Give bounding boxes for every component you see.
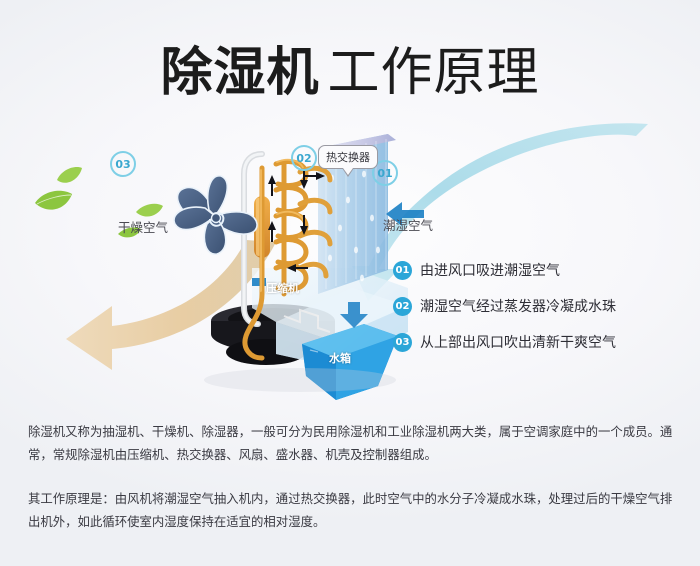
legend-text-01: 由进风口吸进潮湿空气	[420, 260, 560, 280]
page-title-primary: 除湿机	[160, 43, 319, 103]
legend-item-03: 03 从上部出风口吹出清新干爽空气	[393, 324, 693, 360]
legend-text-03: 从上部出风口吹出清新干爽空气	[420, 332, 616, 352]
page-title: 除湿机工作原理	[0, 30, 700, 105]
body-paragraph-1: 除湿机又称为抽湿机、干燥机、除湿器，一般可分为民用除湿机和工业除湿机两大类，属于…	[28, 420, 676, 466]
page-title-secondary: 工作原理	[328, 43, 540, 103]
body-paragraph-2: 其工作原理是：由风机将潮湿空气抽入机内，通过热交换器，此时空气中的水分子冷凝成水…	[28, 487, 676, 533]
leaf-icon-1	[35, 191, 72, 210]
legend-list: 01 由进风口吸进潮湿空气 02 潮湿空气经过蒸发器冷凝成水珠 03 从上部出风…	[393, 252, 693, 360]
label-humid-air: 潮湿空气	[383, 215, 433, 234]
badge-dry-air: 03	[110, 151, 136, 177]
page-root: 除湿机工作原理	[0, 0, 700, 566]
leaf-icon-2	[57, 167, 82, 183]
legend-number-01: 01	[393, 261, 412, 280]
legend-number-03: 03	[393, 333, 412, 352]
badge-heat-exchanger: 02	[291, 145, 317, 171]
callout-heat-exchanger: 热交换器	[318, 145, 378, 169]
label-dry-air: 干燥空气	[118, 217, 168, 236]
label-compressor: 压缩机	[266, 280, 299, 296]
legend-text-02: 潮湿空气经过蒸发器冷凝成水珠	[420, 296, 616, 316]
label-water-tank: 水箱	[329, 350, 351, 366]
legend-item-02: 02 潮湿空气经过蒸发器冷凝成水珠	[393, 288, 693, 324]
leaf-icon-3	[136, 204, 163, 217]
legend-number-02: 02	[393, 297, 412, 316]
legend-item-01: 01 由进风口吸进潮湿空气	[393, 252, 693, 288]
machine-shadow	[204, 368, 396, 392]
